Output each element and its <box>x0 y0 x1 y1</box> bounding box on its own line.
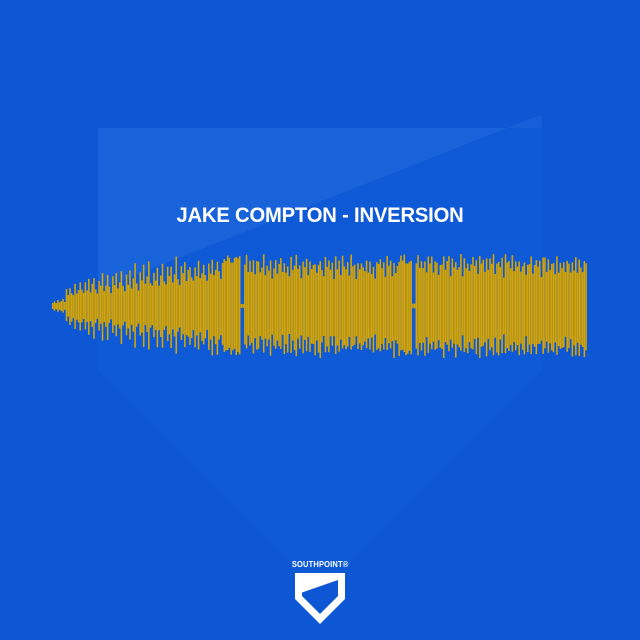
southpoint-logo: SOUTHPOINT® <box>282 560 358 627</box>
logo-wordmark: SOUTHPOINT® <box>292 560 349 569</box>
background-shield-outer <box>98 128 542 592</box>
waveform-canvas <box>52 254 587 358</box>
page-title: JAKE COMPTON - INVERSION <box>19 203 621 227</box>
album-cover-artwork: JAKE COMPTON - INVERSION SOUTHPOINT® <box>0 0 640 640</box>
audio-waveform <box>52 254 587 358</box>
home-plate-shield-icon <box>292 571 348 627</box>
